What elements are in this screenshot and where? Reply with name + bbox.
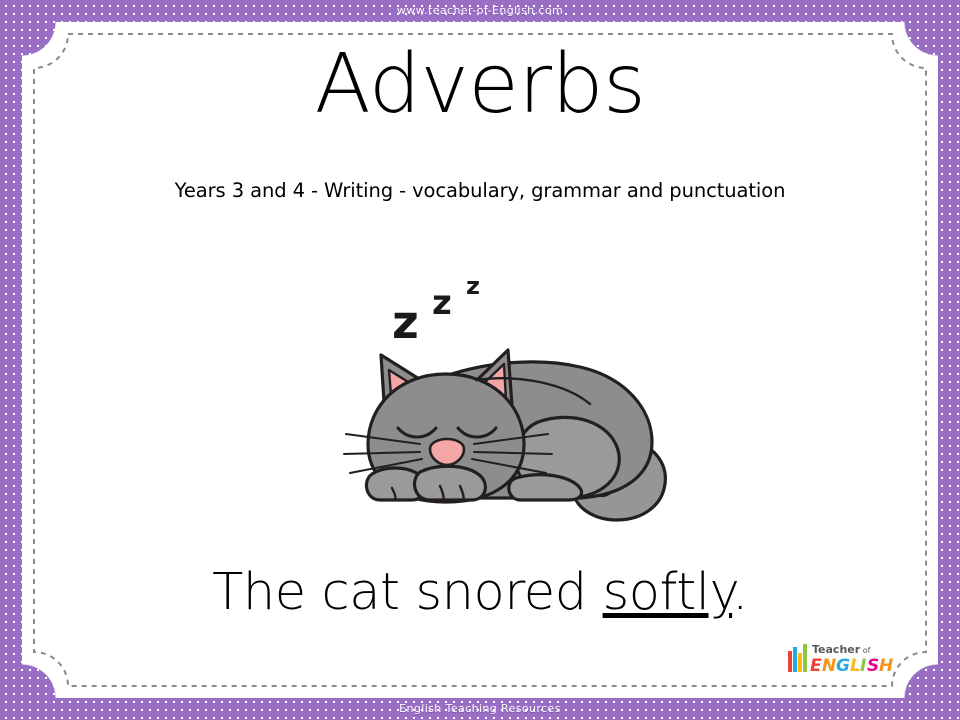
bottom-banner-caption: English Teaching Resources xyxy=(0,702,960,715)
logo-bars xyxy=(788,644,807,672)
sentence-after: . xyxy=(732,563,748,622)
svg-text:S: S xyxy=(867,656,879,674)
sleep-letter-small: z xyxy=(466,272,480,300)
example-sentence: The cat snored softly. xyxy=(22,563,938,622)
page-title: Adverbs xyxy=(22,44,938,126)
svg-text:I: I xyxy=(860,656,866,674)
sentence-before: The cat snored xyxy=(212,563,602,622)
logo-wordmark-english: E N G L I S H xyxy=(810,656,893,674)
teacher-of-english-logo: Teacher of E N G L I S H xyxy=(786,638,898,674)
slide: www.teacher-of-English.com Adverbs Years… xyxy=(0,0,960,720)
svg-text:H: H xyxy=(879,656,893,674)
sentence-adverb: softly xyxy=(603,563,733,622)
svg-text:G: G xyxy=(836,656,850,674)
top-banner-url: www.teacher-of-English.com xyxy=(0,4,960,17)
sleep-letter-medium: z xyxy=(432,283,452,323)
curriculum-subtitle: Years 3 and 4 - Writing - vocabulary, gr… xyxy=(22,179,938,202)
sleeping-cat-illustration: z z z xyxy=(280,262,700,542)
logo-wordmark-teacher-of: Teacher of xyxy=(812,643,871,656)
svg-text:N: N xyxy=(822,656,836,674)
sleep-letter-large: z xyxy=(392,295,419,349)
svg-text:E: E xyxy=(810,656,822,674)
slide-content: Adverbs Years 3 and 4 - Writing - vocabu… xyxy=(22,22,938,698)
